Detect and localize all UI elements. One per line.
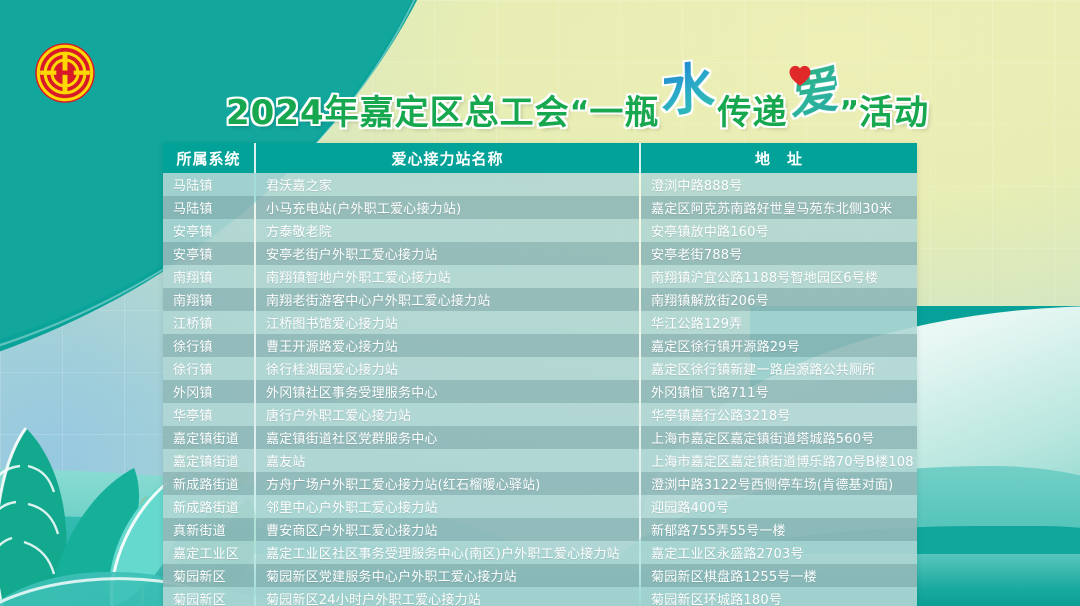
poster-title: 2024年嘉定区总工会“一瓶水传递爱”活动 [226,58,866,130]
table-row: 新成路街道邻里中心户外职工爱心接力站迎园路400号 [163,495,917,518]
cell-system: 新成路街道 [163,472,255,495]
cell-system: 嘉定镇街道 [163,449,255,472]
cell-system: 徐行镇 [163,334,255,357]
table-header-row: 所属系统 爱心接力站名称 地 址 [163,143,917,173]
table-body: 马陆镇君沃嘉之家澄浏中路888号马陆镇小马充电站(户外职工爱心接力站)嘉定区阿克… [163,173,917,606]
cell-address: 嘉定区徐行镇开源路29号 [640,334,917,357]
table-row: 嘉定镇街道嘉友站上海市嘉定区嘉定镇街道博乐路70号B楼108 [163,449,917,472]
cell-system: 外冈镇 [163,380,255,403]
cell-station-name: 唐行户外职工爱心接力站 [255,403,640,426]
cell-station-name: 曹王开源路爱心接力站 [255,334,640,357]
stations-table: 所属系统 爱心接力站名称 地 址 马陆镇君沃嘉之家澄浏中路888号马陆镇小马充电… [163,143,917,606]
table-row: 华亭镇唐行户外职工爱心接力站华亭镇嘉行公路3218号 [163,403,917,426]
cell-station-name: 外冈镇社区事务受理服务中心 [255,380,640,403]
cell-system: 南翔镇 [163,288,255,311]
table-row: 菊园新区菊园新区24小时户外职工爱心接力站菊园新区环城路180号 [163,587,917,606]
cell-system: 徐行镇 [163,357,255,380]
cell-station-name: 方舟广场户外职工爱心接力站(红石榴暖心驿站) [255,472,640,495]
cell-station-name: 小马充电站(户外职工爱心接力站) [255,196,640,219]
cell-system: 华亭镇 [163,403,255,426]
cell-system: 安亭镇 [163,219,255,242]
cell-address: 南翔镇解放街206号 [640,288,917,311]
cell-address: 迎园路400号 [640,495,917,518]
table-row: 新成路街道方舟广场户外职工爱心接力站(红石榴暖心驿站)澄浏中路3122号西侧停车… [163,472,917,495]
cell-address: 嘉定区徐行镇新建一路启源路公共厕所 [640,357,917,380]
cell-system: 南翔镇 [163,265,255,288]
cell-address: 外冈镇恒飞路711号 [640,380,917,403]
cell-address: 嘉定区阿克苏南路好世皇马苑东北侧30米 [640,196,917,219]
cell-system: 嘉定镇街道 [163,426,255,449]
poster-canvas: 2024年嘉定区总工会“一瓶水传递爱”活动 所属系统 爱心接力站名称 地 址 马… [0,0,1080,606]
table-row: 江桥镇江桥图书馆爱心接力站华江公路129弄 [163,311,917,334]
table-row: 马陆镇小马充电站(户外职工爱心接力站)嘉定区阿克苏南路好世皇马苑东北侧30米 [163,196,917,219]
table-row: 徐行镇徐行桂湖园爱心接力站嘉定区徐行镇新建一路启源路公共厕所 [163,357,917,380]
cell-station-name: 君沃嘉之家 [255,173,640,196]
title-chuandi: 传递 [717,96,787,130]
cell-address: 安亭镇放中路160号 [640,219,917,242]
cell-address: 南翔镇沪宜公路1188号智地园区6号楼 [640,265,917,288]
cell-address: 上海市嘉定区嘉定镇街道博乐路70号B楼108 [640,449,917,472]
column-header-system: 所属系统 [163,143,255,173]
table-row: 真新街道曹安商区户外职工爱心接力站新郁路755弄55号一楼 [163,518,917,541]
table-row: 外冈镇外冈镇社区事务受理服务中心外冈镇恒飞路711号 [163,380,917,403]
cell-station-name: 菊园新区24小时户外职工爱心接力站 [255,587,640,606]
table-row: 徐行镇曹王开源路爱心接力站嘉定区徐行镇开源路29号 [163,334,917,357]
cell-system: 马陆镇 [163,173,255,196]
title-shui-calligraphy: 水 [661,59,716,120]
acftu-union-emblem-icon [34,42,96,104]
table-row: 马陆镇君沃嘉之家澄浏中路888号 [163,173,917,196]
cell-address: 嘉定工业区永盛路2703号 [640,541,917,564]
cell-station-name: 南翔镇智地户外职工爱心接力站 [255,265,640,288]
cell-address: 澄浏中路888号 [640,173,917,196]
cell-station-name: 邻里中心户外职工爱心接力站 [255,495,640,518]
cell-system: 菊园新区 [163,564,255,587]
table-row: 南翔镇南翔老街游客中心户外职工爱心接力站南翔镇解放街206号 [163,288,917,311]
cell-station-name: 嘉定镇街道社区党群服务中心 [255,426,640,449]
cell-address: 菊园新区棋盘路1255号一楼 [640,564,917,587]
cell-system: 菊园新区 [163,587,255,606]
cell-address: 上海市嘉定区嘉定镇街道塔城路560号 [640,426,917,449]
cell-system: 安亭镇 [163,242,255,265]
cell-station-name: 嘉友站 [255,449,640,472]
cell-station-name: 南翔老街游客中心户外职工爱心接力站 [255,288,640,311]
cell-address: 华江公路129弄 [640,311,917,334]
cell-station-name: 方泰敬老院 [255,219,640,242]
cell-station-name: 曹安商区户外职工爱心接力站 [255,518,640,541]
cell-station-name: 安亭老街户外职工爱心接力站 [255,242,640,265]
cell-station-name: 菊园新区党建服务中心户外职工爱心接力站 [255,564,640,587]
cell-address: 安亭老街788号 [640,242,917,265]
table-row: 嘉定工业区嘉定工业区社区事务受理服务中心(南区)户外职工爱心接力站嘉定工业区永盛… [163,541,917,564]
cell-station-name: 徐行桂湖园爱心接力站 [255,357,640,380]
column-header-address: 地 址 [640,143,917,173]
cell-system: 真新街道 [163,518,255,541]
cell-address: 华亭镇嘉行公路3218号 [640,403,917,426]
title-yiping: 一瓶 [589,96,659,130]
cell-address: 菊园新区环城路180号 [640,587,917,606]
table-row: 南翔镇南翔镇智地户外职工爱心接力站南翔镇沪宜公路1188号智地园区6号楼 [163,265,917,288]
table-row: 嘉定镇街道嘉定镇街道社区党群服务中心上海市嘉定区嘉定镇街道塔城路560号 [163,426,917,449]
column-header-station-name: 爱心接力站名称 [255,143,640,173]
cell-address: 澄浏中路3122号西侧停车场(肯德基对面) [640,472,917,495]
table-row: 安亭镇安亭老街户外职工爱心接力站安亭老街788号 [163,242,917,265]
title-close-quote: ” [839,95,859,130]
title-open-quote: “ [570,95,590,130]
table-row: 安亭镇方泰敬老院安亭镇放中路160号 [163,219,917,242]
cell-system: 马陆镇 [163,196,255,219]
heart-icon [788,64,812,88]
cell-system: 嘉定工业区 [163,541,255,564]
cell-system: 江桥镇 [163,311,255,334]
cell-address: 新郁路755弄55号一楼 [640,518,917,541]
cell-station-name: 嘉定工业区社区事务受理服务中心(南区)户外职工爱心接力站 [255,541,640,564]
table-row: 菊园新区菊园新区党建服务中心户外职工爱心接力站菊园新区棋盘路1255号一楼 [163,564,917,587]
title-lead: 2024年嘉定区总工会 [226,96,570,130]
cell-system: 新成路街道 [163,495,255,518]
title-tail: 活动 [859,96,929,130]
cell-station-name: 江桥图书馆爱心接力站 [255,311,640,334]
